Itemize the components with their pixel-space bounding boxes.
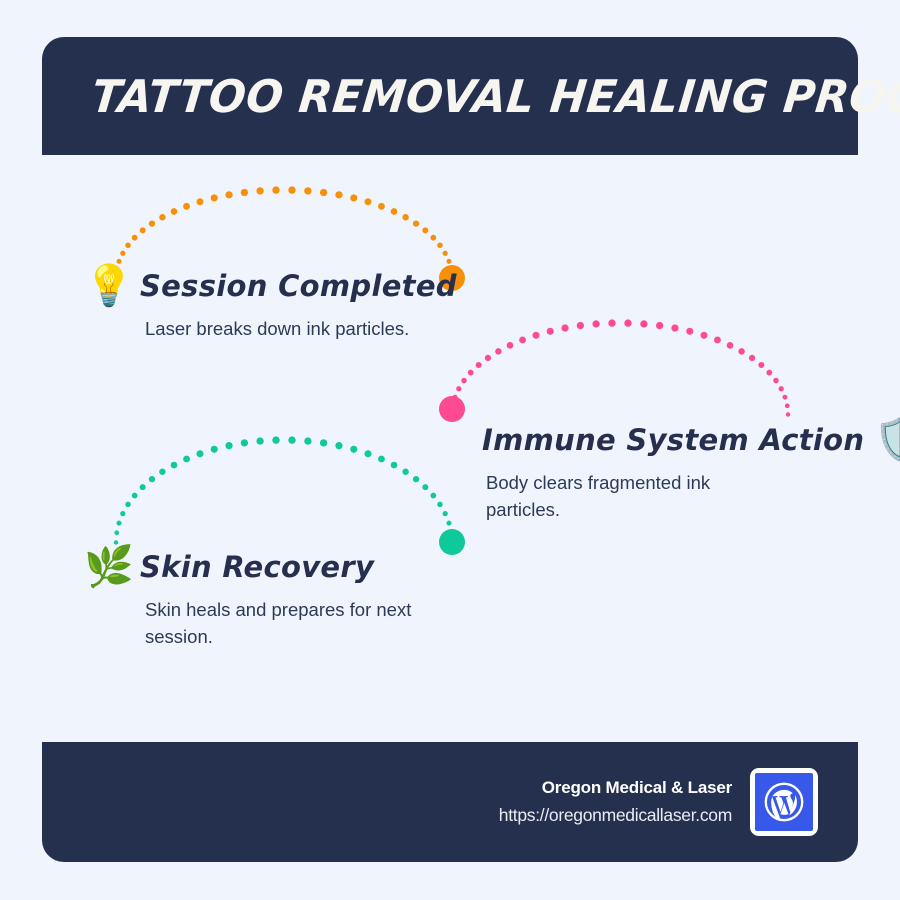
page-title: Tattoo Removal Healing Process — [39, 70, 900, 123]
step-session-completed: 💡 Session Completed Laser breaks down in… — [84, 266, 457, 343]
arc-dot — [320, 189, 327, 196]
arc-dot — [437, 502, 443, 508]
arc-dot — [786, 412, 790, 416]
arc-dot — [701, 332, 708, 339]
arc-dot — [117, 521, 122, 526]
light-bulb-icon: 💡 — [84, 266, 130, 306]
step-header: Immune System Action 🛡️ — [482, 420, 900, 460]
arc-dot — [140, 227, 146, 233]
arc-dot — [211, 194, 218, 201]
arc-dot — [183, 203, 190, 210]
arc-endpoint-dot-immune-system-action — [439, 396, 465, 422]
arc-dot — [449, 530, 454, 535]
arc-dot — [671, 324, 678, 331]
arc-dot — [320, 439, 327, 446]
arc-dot — [159, 214, 165, 220]
arc-dot — [402, 469, 408, 475]
arc-dot — [773, 378, 779, 384]
arc-dot — [335, 442, 342, 449]
arc-dot — [519, 337, 526, 344]
arc-dot — [766, 370, 772, 376]
arc-dot — [640, 320, 647, 327]
footer-url[interactable]: https://oregonmedicallaser.com — [499, 801, 732, 829]
arc-dot — [413, 476, 419, 482]
wordpress-logo[interactable] — [750, 768, 818, 836]
arc-dot — [132, 235, 138, 241]
footer-bar: Oregon Medical & Laser https://oregonmed… — [42, 742, 858, 862]
arc-dot — [365, 198, 372, 205]
arc-dot — [714, 337, 721, 344]
arc-dot — [378, 456, 385, 463]
arc-dot — [225, 442, 232, 449]
arc-dot — [125, 243, 131, 249]
arc-dot — [450, 540, 454, 544]
wordpress-logo-tile — [755, 773, 813, 831]
arc-dot — [446, 259, 451, 264]
arc-dot — [656, 322, 663, 329]
arc-dot — [507, 342, 514, 349]
arc-dot — [183, 456, 190, 463]
arc-dot — [288, 186, 295, 193]
arc-dot — [335, 191, 342, 198]
step-description: Laser breaks down ink particles. — [145, 316, 425, 343]
arc-dot — [304, 187, 311, 194]
arc-dot — [495, 348, 501, 354]
arc-dot — [577, 322, 584, 329]
arc-dot — [443, 251, 448, 256]
arc-dot — [413, 220, 419, 226]
arc-dot — [446, 521, 451, 526]
arc-dot — [114, 530, 119, 535]
wordpress-w-icon — [761, 779, 807, 825]
arc-dot — [120, 251, 125, 256]
arc-dot — [422, 227, 428, 233]
arc-dot — [430, 235, 436, 241]
arc-dot — [547, 328, 554, 335]
arc-dot — [378, 203, 385, 210]
arc-dot — [727, 342, 734, 349]
header-bar: Tattoo Removal Healing Process — [42, 37, 858, 155]
arc-dot — [149, 220, 155, 226]
step-header: 💡 Session Completed — [84, 266, 457, 306]
arc-dot — [288, 436, 295, 443]
arc-dot — [241, 439, 248, 446]
arc-dot — [125, 502, 131, 508]
arc-dot — [402, 214, 408, 220]
arc-dot — [391, 462, 398, 469]
arc-dot — [468, 370, 474, 376]
arc-dot — [140, 484, 146, 490]
arc-dot — [365, 450, 372, 457]
arc-dot — [159, 469, 165, 475]
arc-dot — [171, 208, 178, 215]
arc-dot — [430, 493, 436, 499]
arc-dot — [624, 319, 631, 326]
arc-dot — [785, 403, 790, 408]
arc-dot — [443, 511, 448, 516]
arc-dot — [738, 348, 744, 354]
arc-dot — [533, 332, 540, 339]
arc-dot — [453, 395, 458, 400]
arc-dot — [272, 436, 279, 443]
step-title: Skin Recovery — [140, 550, 374, 584]
arc-dot — [476, 362, 482, 368]
arc-dot — [350, 194, 357, 201]
footer-text-block: Oregon Medical & Laser https://oregonmed… — [499, 775, 732, 829]
arc-dot — [197, 450, 204, 457]
arc-dot — [437, 243, 443, 249]
arc-dot — [749, 355, 755, 361]
arc-dot — [758, 362, 764, 368]
arc-dot — [171, 462, 178, 469]
arc-dot — [132, 493, 138, 499]
step-title: Session Completed — [140, 269, 457, 303]
arc-dot — [456, 386, 461, 391]
step-description: Skin heals and prepares for next session… — [145, 597, 435, 651]
arc-dot — [120, 511, 125, 516]
footer-brand: Oregon Medical & Laser — [499, 775, 732, 801]
arc-dot — [461, 378, 467, 384]
arc-dot — [608, 319, 615, 326]
step-skin-recovery: 🌿 Skin Recovery Skin heals and prepares … — [84, 547, 435, 651]
herb-icon: 🌿 — [84, 547, 130, 587]
arc-dot — [779, 386, 784, 391]
arc-dot — [561, 324, 568, 331]
arc-endpoint-dot-skin-recovery — [439, 529, 465, 555]
arc-dot — [211, 446, 218, 453]
arc-dot — [450, 412, 454, 416]
arc-dot — [241, 189, 248, 196]
arc-dot — [304, 437, 311, 444]
arc-dot — [272, 186, 279, 193]
step-title: Immune System Action — [482, 423, 864, 457]
arc-dot — [391, 208, 398, 215]
arc-dot — [256, 187, 263, 194]
step-immune-system-action: Immune System Action 🛡️ Body clears frag… — [482, 420, 900, 524]
step-header: 🌿 Skin Recovery — [84, 547, 435, 587]
infographic-canvas: Tattoo Removal Healing Process 💡 Session… — [0, 0, 900, 900]
shield-icon: 🛡️ — [874, 420, 900, 460]
arc-dot — [485, 355, 491, 361]
arc-dot — [197, 198, 204, 205]
arc-dot — [350, 446, 357, 453]
arc-dot — [686, 328, 693, 335]
step-description: Body clears fragmented ink particles. — [486, 470, 776, 524]
arc-dot — [782, 395, 787, 400]
arc-dot — [592, 320, 599, 327]
arc-dot — [149, 476, 155, 482]
arc-dot — [450, 403, 455, 408]
arc-dot — [225, 191, 232, 198]
arc-dot — [256, 437, 263, 444]
arc-dot — [422, 484, 428, 490]
